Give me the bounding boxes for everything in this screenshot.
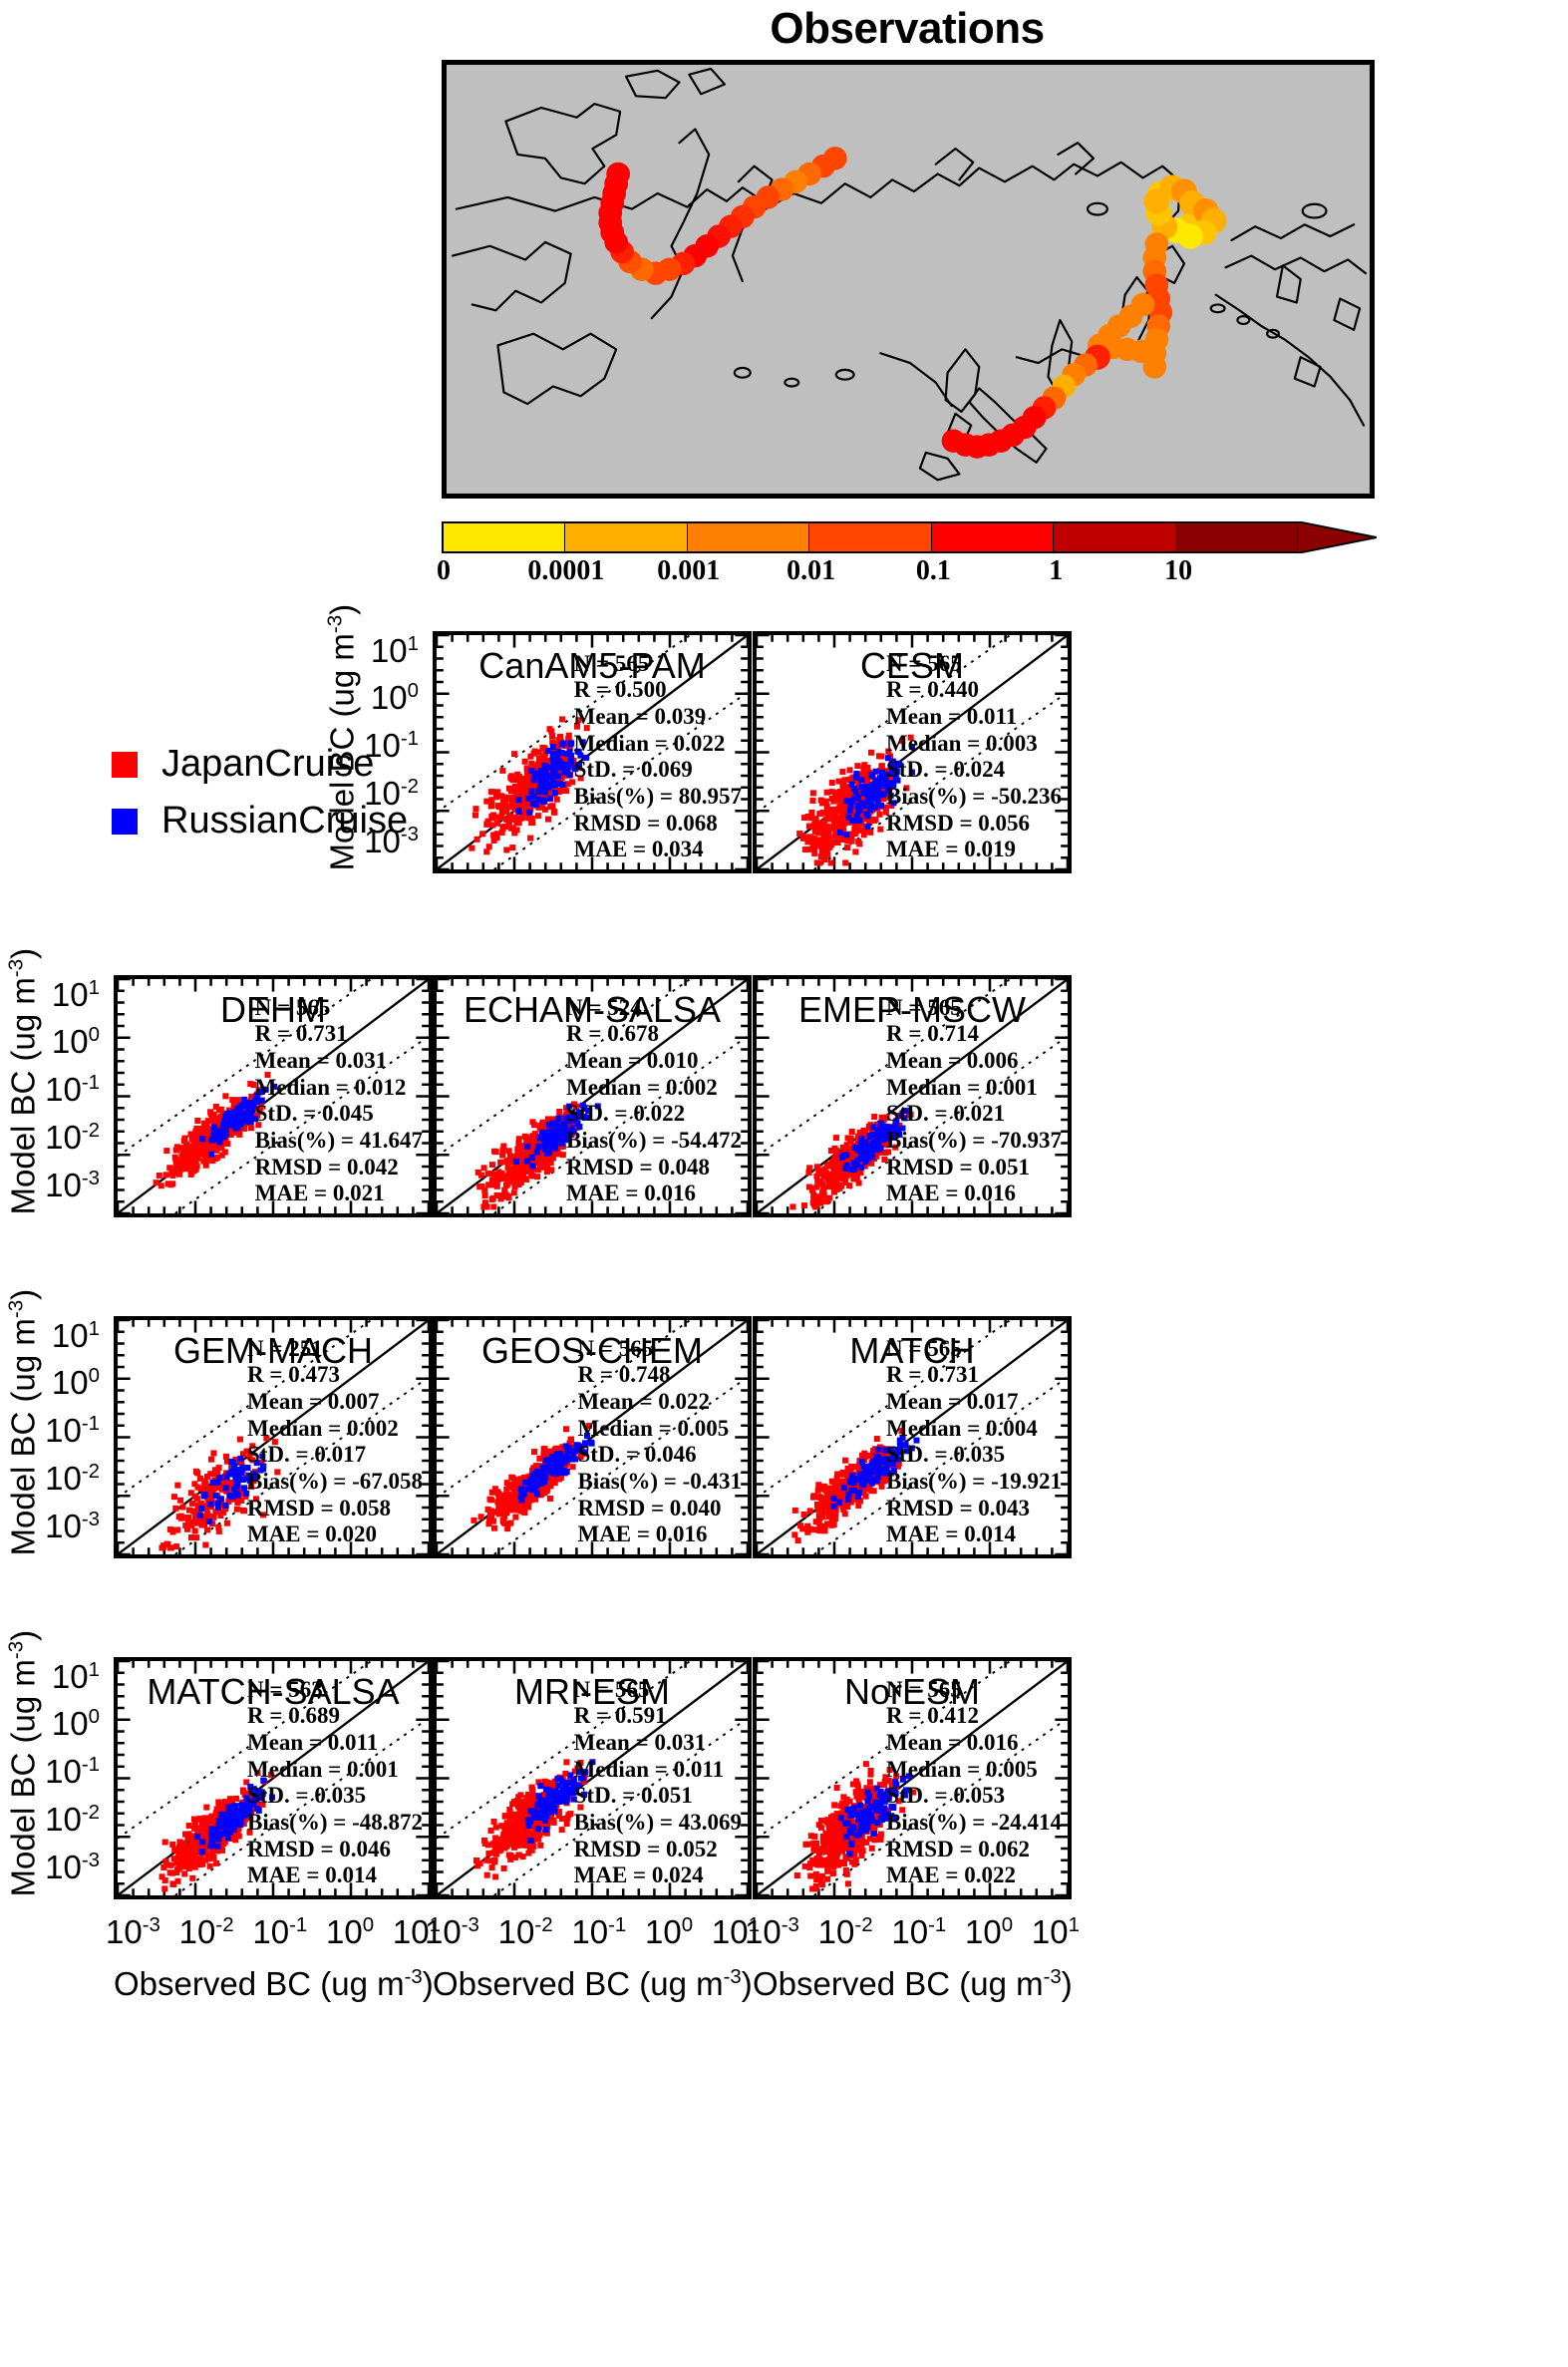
y-tick-label: 10-2 — [22, 1460, 100, 1498]
x-tick-label: 10-2 — [498, 1913, 553, 1951]
colorbar-gradient — [442, 521, 1299, 553]
stat-line: Mean = 0.010 — [566, 1048, 742, 1075]
stat-line: MAE = 0.014 — [886, 1522, 1062, 1548]
stat-line: MAE = 0.034 — [574, 837, 742, 863]
y-tick-label: 10-3 — [341, 823, 419, 860]
stat-line: Mean = 0.016 — [886, 1730, 1062, 1757]
stat-line: RMSD = 0.043 — [886, 1496, 1062, 1522]
stat-line: R = 0.412 — [886, 1703, 1062, 1730]
x-axis-label: Observed BC (ug m-3) — [433, 1965, 752, 2003]
x-tick-label: 10-3 — [106, 1913, 160, 1951]
scatter-panel-gem-mach: GEM-MACHN = 251R = 0.473Mean = 0.007Medi… — [114, 1316, 433, 1558]
stat-line: Mean = 0.006 — [886, 1048, 1062, 1075]
stat-line: Median = 0.005 — [886, 1757, 1062, 1784]
stat-line: N = 565 — [255, 995, 423, 1022]
stat-line: Median = 0.002 — [247, 1416, 423, 1443]
x-tick-label: 10-1 — [571, 1913, 626, 1951]
colorbar-arrow-icon — [1297, 521, 1377, 553]
x-tick-label: 100 — [645, 1913, 693, 1951]
y-tick-label: 10-3 — [22, 1167, 100, 1204]
scatter-panel-match-salsa: MATCH-SALSAN = 563R = 0.689Mean = 0.011M… — [114, 1657, 433, 1899]
panel-statistics: N = 563R = 0.689Mean = 0.011Median = 0.0… — [247, 1677, 423, 1889]
stat-line: MAE = 0.021 — [255, 1181, 423, 1207]
x-tick-label: 100 — [326, 1913, 374, 1951]
stat-line: Mean = 0.039 — [574, 704, 742, 731]
stat-line: R = 0.678 — [566, 1021, 742, 1048]
x-tick-label: 10-2 — [818, 1913, 873, 1951]
y-tick-label: 101 — [22, 976, 100, 1014]
stat-line: Median = 0.011 — [574, 1757, 742, 1784]
stat-line: Bias(%) = -70.937 — [886, 1128, 1062, 1155]
stat-line: Bias(%) = -50.236 — [886, 784, 1062, 811]
panel-statistics: N = 565R = 0.500Mean = 0.039Median = 0.0… — [574, 651, 742, 863]
stat-line: R = 0.731 — [886, 1362, 1062, 1389]
stat-line: MAE = 0.020 — [247, 1522, 423, 1548]
stat-line: R = 0.689 — [247, 1703, 423, 1730]
stat-line: MAE = 0.016 — [886, 1181, 1062, 1207]
y-tick-label: 100 — [22, 1705, 100, 1743]
legend-swatch-icon — [112, 809, 138, 835]
map-coastlines-svg — [447, 65, 1370, 494]
stat-line: RMSD = 0.040 — [577, 1496, 742, 1522]
colorbar-tick-label: 0 — [437, 555, 451, 587]
stat-line: Mean = 0.007 — [247, 1389, 423, 1416]
y-tick-label: 101 — [341, 632, 419, 670]
colorbar-tick-label: 0.01 — [786, 555, 835, 587]
panel-statistics: N = 565R = 0.412Mean = 0.016Median = 0.0… — [886, 1677, 1062, 1889]
y-tick-label: 101 — [22, 1317, 100, 1355]
y-tick-label: 10-2 — [22, 1119, 100, 1157]
stat-line: RMSD = 0.042 — [255, 1155, 423, 1182]
stat-line: R = 0.440 — [886, 677, 1062, 704]
stat-line: StD. = 0.035 — [247, 1783, 423, 1810]
stat-line: StD. = 0.035 — [886, 1442, 1062, 1469]
stat-line: StD. = 0.022 — [566, 1101, 742, 1128]
scatter-panel-cesm: CESMN = 565R = 0.440Mean = 0.011Median =… — [753, 631, 1072, 873]
scatter-panel-echam-salsa: ECHAM-SALSAN = 524R = 0.678Mean = 0.010M… — [433, 975, 752, 1217]
panel-statistics: N = 565R = 0.731Mean = 0.031Median = 0.0… — [255, 995, 423, 1207]
stat-line: Median = 0.004 — [886, 1416, 1062, 1443]
x-axis-label: Observed BC (ug m-3) — [753, 1965, 1072, 2003]
stat-line: N = 565 — [574, 651, 742, 678]
stat-line: StD. = 0.017 — [247, 1442, 423, 1469]
stat-line: Bias(%) = -67.058 — [247, 1469, 423, 1496]
x-tick-labels: 10-310-210-1100101 — [425, 1913, 760, 1951]
stat-line: MAE = 0.016 — [577, 1522, 742, 1548]
stat-line: RMSD = 0.062 — [886, 1837, 1062, 1863]
y-tick-label: 10-1 — [22, 1071, 100, 1109]
panel-statistics: N = 565R = 0.440Mean = 0.011Median = 0.0… — [886, 651, 1062, 863]
stat-line: N = 565 — [886, 1336, 1062, 1363]
y-tick-label: 100 — [22, 1023, 100, 1061]
colorbar-tick-label: 0.1 — [916, 555, 951, 587]
x-tick-labels: 10-310-210-1100101 — [745, 1913, 1080, 1951]
stat-line: Bias(%) = -0.431 — [577, 1469, 742, 1496]
stat-line: N = 565 — [886, 1677, 1062, 1704]
stat-line: MAE = 0.022 — [886, 1862, 1062, 1889]
stat-line: RMSD = 0.056 — [886, 811, 1062, 838]
scatter-panel-noresm: NorESMN = 565R = 0.412Mean = 0.016Median… — [753, 1657, 1072, 1899]
stat-line: Bias(%) = -54.472 — [566, 1128, 742, 1155]
x-tick-label: 10-3 — [745, 1913, 799, 1951]
panel-statistics: N = 565R = 0.591Mean = 0.031Median = 0.0… — [574, 1677, 742, 1889]
stat-line: Mean = 0.022 — [577, 1389, 742, 1416]
y-tick-label: 10-1 — [22, 1412, 100, 1450]
legend-swatch-icon — [112, 752, 138, 778]
x-tick-label: 10-3 — [425, 1913, 479, 1951]
stat-line: StD. = 0.024 — [886, 757, 1062, 784]
y-tick-label: 10-3 — [22, 1508, 100, 1545]
stat-line: Mean = 0.017 — [886, 1389, 1062, 1416]
stat-line: N = 565 — [886, 651, 1062, 678]
stat-line: Median = 0.022 — [574, 731, 742, 758]
stat-line: R = 0.500 — [574, 677, 742, 704]
stat-line: Mean = 0.031 — [574, 1730, 742, 1757]
stat-line: Mean = 0.031 — [255, 1048, 423, 1075]
x-tick-label: 10-2 — [179, 1913, 234, 1951]
stat-line: RMSD = 0.048 — [566, 1155, 742, 1182]
stat-line: RMSD = 0.051 — [886, 1155, 1062, 1182]
colorbar-cell-5 — [1054, 523, 1175, 551]
stat-line: R = 0.731 — [255, 1021, 423, 1048]
colorbar-cell-1 — [565, 523, 687, 551]
y-tick-label: 100 — [341, 679, 419, 717]
scatter-panel-canam5-pam: CanAM5-PAMN = 565R = 0.500Mean = 0.039Me… — [433, 631, 752, 873]
data-points — [469, 716, 589, 854]
stat-line: RMSD = 0.046 — [247, 1837, 423, 1863]
scatter-panel-dehm: DEHMN = 565R = 0.731Mean = 0.031Median =… — [114, 975, 433, 1217]
stat-line: Median = 0.002 — [566, 1075, 742, 1102]
stat-line: StD. = 0.053 — [886, 1783, 1062, 1810]
y-tick-label: 10-3 — [22, 1849, 100, 1886]
y-tick-label: 10-2 — [341, 775, 419, 813]
stat-line: N = 251 — [247, 1336, 423, 1363]
stat-line: R = 0.591 — [574, 1703, 742, 1730]
stat-line: StD. = 0.045 — [255, 1101, 423, 1128]
stat-line: MAE = 0.014 — [247, 1862, 423, 1889]
map-title: Observations — [439, 4, 1376, 54]
colorbar-cell-6 — [1176, 523, 1297, 551]
colorbar-tick-label: 1 — [1049, 555, 1063, 587]
stat-line: Bias(%) = 80.957 — [574, 784, 742, 811]
stat-line: N = 565 — [574, 1677, 742, 1704]
observations-map — [442, 60, 1375, 499]
stat-line: MAE = 0.019 — [886, 837, 1062, 863]
stat-line: StD. = 0.051 — [574, 1783, 742, 1810]
colorbar-cell-3 — [809, 523, 931, 551]
stat-line: Mean = 0.011 — [247, 1730, 423, 1757]
x-tick-label: 100 — [965, 1913, 1013, 1951]
x-tick-label: 10-1 — [891, 1913, 946, 1951]
stat-line: R = 0.473 — [247, 1362, 423, 1389]
colorbar-cell-4 — [932, 523, 1054, 551]
stat-line: RMSD = 0.058 — [247, 1496, 423, 1522]
stat-line: Median = 0.003 — [886, 731, 1062, 758]
cruise-track-markers — [598, 147, 1226, 459]
stat-line: Mean = 0.011 — [886, 704, 1062, 731]
panel-statistics: N = 524R = 0.678Mean = 0.010Median = 0.0… — [566, 995, 742, 1207]
y-tick-label: 10-1 — [22, 1753, 100, 1791]
scatter-panel-mri-esm: MRI-ESMN = 565R = 0.591Mean = 0.031Media… — [433, 1657, 752, 1899]
scatter-panel-match: MATCHN = 565R = 0.731Mean = 0.017Median … — [753, 1316, 1072, 1558]
stat-line: Median = 0.012 — [255, 1075, 423, 1102]
stat-line: StD. = 0.021 — [886, 1101, 1062, 1128]
stat-line: N = 524 — [566, 995, 742, 1022]
stat-line: Median = 0.001 — [886, 1075, 1062, 1102]
scatter-panel-geos-chem: GEOS-CHEMN = 565R = 0.748Mean = 0.022Med… — [433, 1316, 752, 1558]
stat-line: N = 563 — [247, 1677, 423, 1704]
stat-line: StD. = 0.069 — [574, 757, 742, 784]
data-points — [470, 1423, 594, 1531]
panel-statistics: N = 251R = 0.473Mean = 0.007Median = 0.0… — [247, 1336, 423, 1548]
stat-line: Median = 0.005 — [577, 1416, 742, 1443]
colorbar-tick-label: 0.0001 — [527, 555, 604, 587]
x-tick-label: 101 — [1032, 1913, 1080, 1951]
x-tick-labels: 10-310-210-1100101 — [106, 1913, 441, 1951]
y-tick-label: 100 — [22, 1364, 100, 1402]
y-tick-label: 10-2 — [22, 1801, 100, 1839]
stat-line: RMSD = 0.052 — [574, 1837, 742, 1863]
panel-statistics: N = 565R = 0.714Mean = 0.006Median = 0.0… — [886, 995, 1062, 1207]
stat-line: N = 565 — [577, 1336, 742, 1363]
stat-line: Bias(%) = -24.414 — [886, 1810, 1062, 1837]
colorbar: 00.00010.0010.010.1110 — [442, 521, 1375, 601]
y-tick-label: 10-1 — [341, 727, 419, 765]
stat-line: MAE = 0.024 — [574, 1862, 742, 1889]
y-tick-label: 101 — [22, 1658, 100, 1696]
stat-line: Bias(%) = 43.069 — [574, 1810, 742, 1837]
x-axis-label: Observed BC (ug m-3) — [114, 1965, 433, 2003]
stat-line: R = 0.748 — [577, 1362, 742, 1389]
stat-line: Median = 0.001 — [247, 1757, 423, 1784]
colorbar-cell-2 — [688, 523, 809, 551]
stat-line: RMSD = 0.068 — [574, 811, 742, 838]
colorbar-tick-label: 0.001 — [657, 555, 720, 587]
stat-line: R = 0.714 — [886, 1021, 1062, 1048]
scatter-panel-emep-mscw: EMEP-MSCWN = 565R = 0.714Mean = 0.006Med… — [753, 975, 1072, 1217]
stat-line: Bias(%) = -48.872 — [247, 1810, 423, 1837]
stat-line: StD. = 0.046 — [577, 1442, 742, 1469]
colorbar-tick-label: 10 — [1164, 555, 1192, 587]
stat-line: N = 565 — [886, 995, 1062, 1022]
stat-line: MAE = 0.016 — [566, 1181, 742, 1207]
panel-statistics: N = 565R = 0.731Mean = 0.017Median = 0.0… — [886, 1336, 1062, 1548]
colorbar-cell-0 — [444, 523, 565, 551]
stat-line: Bias(%) = -19.921 — [886, 1469, 1062, 1496]
x-tick-label: 10-1 — [252, 1913, 307, 1951]
panel-statistics: N = 565R = 0.748Mean = 0.022Median = 0.0… — [577, 1336, 742, 1548]
stat-line: Bias(%) = 41.647 — [255, 1128, 423, 1155]
